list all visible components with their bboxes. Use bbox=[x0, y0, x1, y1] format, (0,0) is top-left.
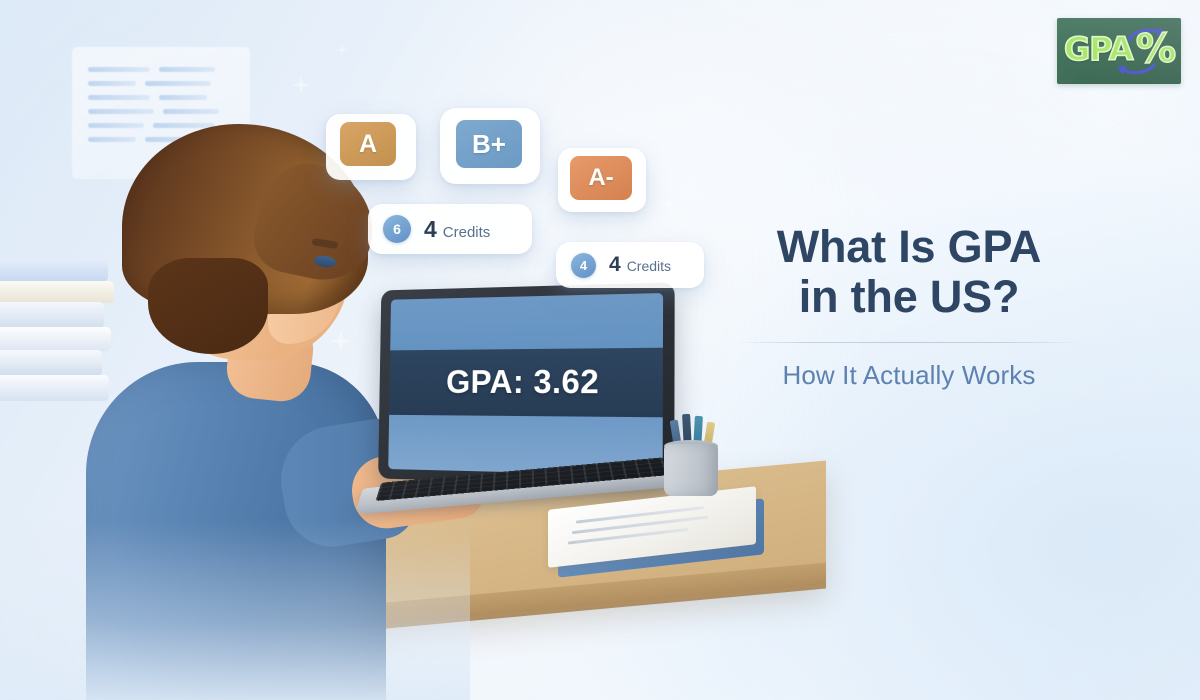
student-hair-nape bbox=[148, 258, 268, 354]
hero-banner: GPA: 3.62 A B+ A- 6 bbox=[0, 0, 1200, 700]
headline-block: What Is GPA in the US? How It Actually W… bbox=[736, 222, 1082, 391]
laptop: GPA: 3.62 bbox=[356, 286, 686, 516]
credit-number: 4 bbox=[609, 253, 621, 277]
credit-count-dot: 4 bbox=[571, 253, 596, 278]
page-title: What Is GPA in the US? bbox=[736, 222, 1082, 323]
logo-percent-symbol: % bbox=[1135, 25, 1177, 72]
credit-text: 4 Credits bbox=[609, 253, 671, 277]
book-stack bbox=[0, 258, 115, 408]
laptop-screen: GPA: 3.62 bbox=[388, 293, 663, 476]
credit-text: 4 Credits bbox=[424, 216, 490, 243]
gpa-logo[interactable]: GPA % bbox=[1057, 18, 1181, 84]
grade-chip-a: A bbox=[340, 122, 396, 166]
screen-band-middle: GPA: 3.62 bbox=[389, 347, 663, 416]
credit-number: 4 bbox=[424, 216, 437, 243]
credit-count-dot: 6 bbox=[383, 215, 411, 243]
title-divider bbox=[737, 342, 1081, 343]
logo-wordmark: GPA bbox=[1064, 30, 1133, 68]
credit-label: Credits bbox=[627, 258, 671, 274]
grade-chip-b-plus: B+ bbox=[456, 120, 522, 168]
student-desk-illustration: GPA: 3.62 bbox=[0, 0, 760, 700]
screen-band-top bbox=[390, 293, 663, 350]
pencil-cup bbox=[664, 444, 718, 496]
gpa-result-text: GPA: 3.62 bbox=[446, 363, 599, 402]
credit-label: Credits bbox=[443, 224, 491, 241]
grade-chip-a-minus: A- bbox=[570, 156, 632, 200]
notebook bbox=[548, 492, 766, 574]
page-subtitle: How It Actually Works bbox=[736, 360, 1082, 391]
credit-card-first: 6 4 Credits bbox=[368, 204, 532, 254]
title-line-1: What Is GPA bbox=[736, 222, 1082, 272]
credit-card-second: 4 4 Credits bbox=[556, 242, 704, 288]
laptop-lid: GPA: 3.62 bbox=[378, 282, 675, 486]
title-line-2: in the US? bbox=[736, 272, 1082, 322]
